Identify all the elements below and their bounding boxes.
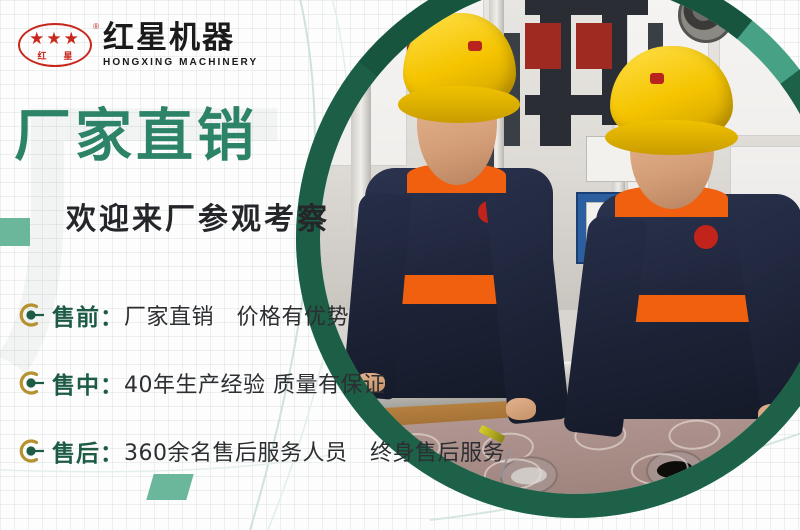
logo-stars: ★★★: [18, 30, 92, 47]
logo-company-cn: 红星机器: [103, 22, 258, 55]
logo-wordmark: 红星机器 HONGXING MACHINERY: [103, 22, 258, 68]
logo-company-en: HONGXING MACHINERY: [103, 58, 258, 68]
company-logo[interactable]: ★★★ 红 星 ® 红星机器 HONGXING MACHINERY: [18, 22, 258, 68]
bullet-label: 售后：: [52, 434, 124, 468]
bullet-label: 售前：: [52, 298, 124, 332]
bullet-text: 厂家直销 价格有优势: [124, 299, 349, 331]
service-bullet-list: 售前： 厂家直销 价格有优势 售中： 40年生产经验 质量有保证 售后： 360…: [16, 300, 505, 466]
target-dot-icon: [16, 436, 46, 466]
logo-badge-chars: 红 星: [18, 52, 92, 61]
list-item[interactable]: 售前： 厂家直销 价格有优势: [16, 300, 505, 330]
list-item[interactable]: 售后： 360余名售后服务人员 终身售后服务: [16, 436, 505, 466]
logo-oval-badge: ★★★ 红 星 ®: [18, 23, 92, 67]
trademark-icon: ®: [93, 22, 99, 31]
bullet-text: 360余名售后服务人员 终身售后服务: [124, 435, 505, 467]
target-dot-icon: [16, 300, 46, 330]
logo-badge-char-left: 红: [37, 52, 46, 61]
bullet-label: 售中：: [52, 366, 124, 400]
ring-tab-left: [0, 218, 30, 246]
headline-main: 厂家直销: [14, 108, 258, 165]
bullet-text: 40年生产经验 质量有保证: [124, 367, 386, 399]
ring-tab-bottom: [146, 474, 193, 500]
promo-banner: 厂: [0, 0, 800, 530]
headline-sub: 欢迎来厂参观考察: [66, 205, 330, 235]
target-dot-icon: [16, 368, 46, 398]
list-item[interactable]: 售中： 40年生产经验 质量有保证: [16, 368, 505, 398]
logo-badge-char-right: 星: [63, 52, 72, 61]
